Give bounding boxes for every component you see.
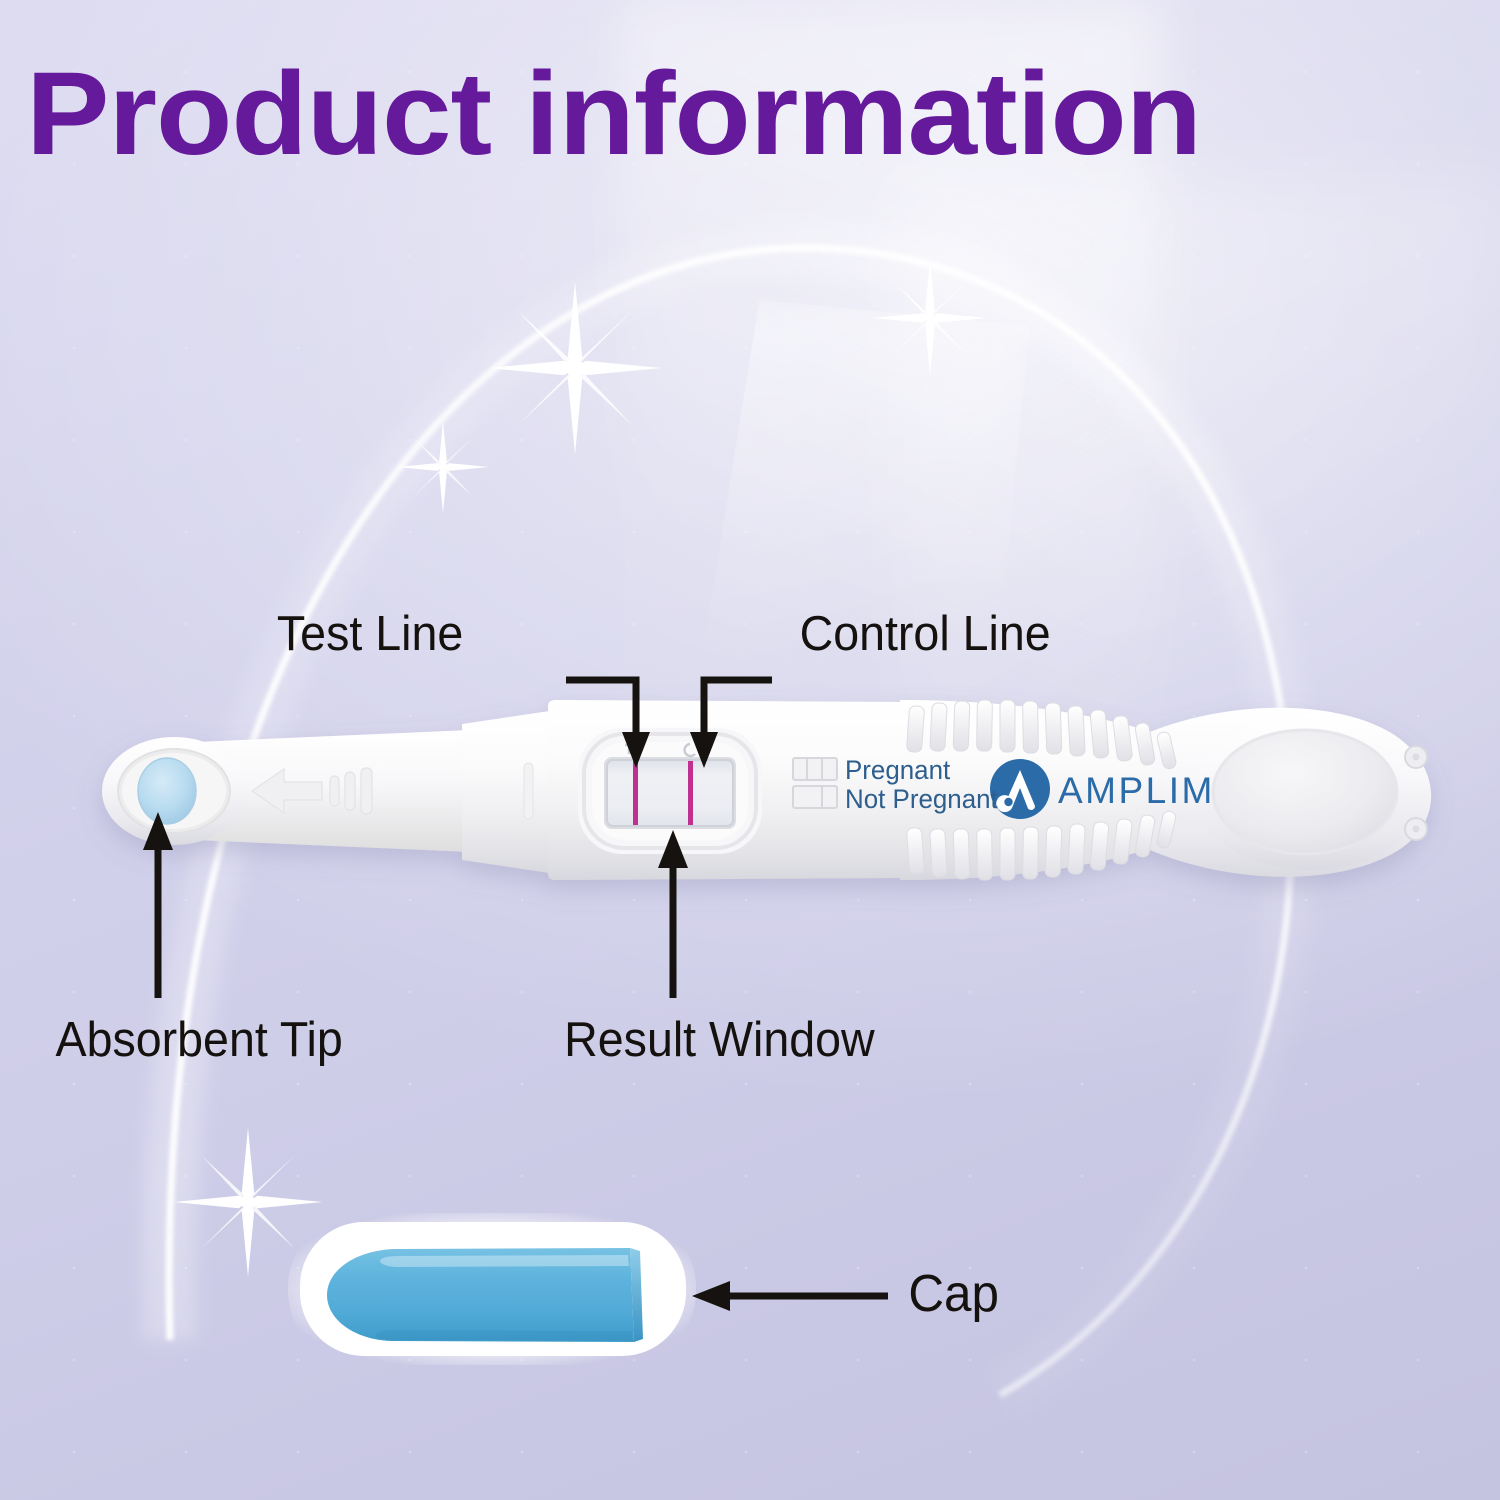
arrowhead-cap	[692, 1281, 730, 1311]
callout-label-control-line: Control Line	[800, 610, 1051, 659]
callout-label-cap: Cap	[908, 1268, 999, 1320]
product-information-image: Product information	[0, 0, 1500, 1500]
callout-label-test-line: Test Line	[277, 610, 463, 659]
callout-label-absorbent-tip: Absorbent Tip	[56, 1016, 343, 1065]
callout-label-result-window: Result Window	[564, 1016, 874, 1065]
callout-leaders	[0, 0, 1500, 1500]
arrowhead-result-window	[658, 830, 688, 868]
arrowhead-absorbent-tip	[143, 812, 173, 850]
arrowhead-control-line	[690, 732, 718, 768]
arrowhead-test-line	[622, 732, 650, 768]
